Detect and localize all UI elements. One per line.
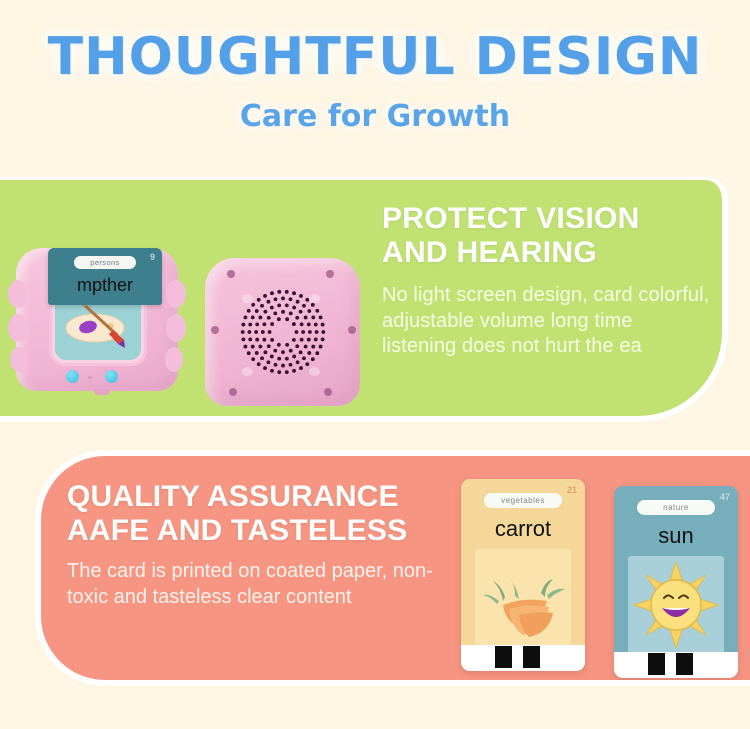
flashcard-carrot-code-strip	[461, 645, 585, 671]
flashcard-carrot-art	[475, 549, 571, 647]
flashcard-carrot-word: carrot	[461, 516, 585, 542]
quality-body: The card is printed on coated paper, non…	[67, 558, 467, 610]
screw-icon	[229, 388, 237, 396]
code-bar	[523, 646, 540, 668]
device-indicator-led	[88, 376, 92, 379]
page-header: THOUGHTFUL DESIGN Care for Growth	[0, 0, 750, 177]
screw-icon	[227, 270, 235, 278]
inserted-card-number: 9	[150, 252, 155, 262]
screw-icon	[326, 270, 334, 278]
page-subtitle: Care for Growth	[240, 99, 510, 134]
flashcard-carrot: vegetables 21 carrot	[461, 479, 585, 671]
device-back-image	[205, 258, 360, 406]
device-foot	[94, 389, 110, 395]
carrot-icon	[475, 549, 571, 647]
flashcard-sun-word: sun	[614, 523, 738, 549]
device-grip-right-2	[166, 314, 186, 342]
page-title: THOUGHTFUL DESIGN	[48, 30, 703, 85]
quality-text-block: QUALITY ASSURANCE AAFE AND TASTELESS The…	[67, 480, 467, 610]
feature-panel-vision-hearing: persons 9 mpther PROTECT VISION AND HEAR…	[0, 177, 728, 422]
device-grip-left-2	[8, 314, 28, 342]
code-bar	[495, 646, 512, 668]
flashcard-sun-art	[628, 556, 724, 654]
flashcard-sun-number: 47	[720, 492, 730, 502]
flashcard-sun-badge: nature	[637, 500, 715, 515]
device-front-image: persons 9 mpther	[8, 248, 186, 391]
smiling-sun-icon	[628, 556, 724, 654]
code-bar	[676, 653, 693, 675]
code-bar	[648, 653, 665, 675]
quality-heading: QUALITY ASSURANCE AAFE AND TASTELESS	[67, 480, 467, 548]
vision-hearing-body: No light screen design, card colorful, a…	[382, 283, 712, 360]
device-volume-button[interactable]	[105, 370, 118, 383]
radial-dot-speaker-icon	[235, 284, 331, 380]
inserted-card-word: mpther	[48, 275, 162, 296]
vision-hearing-heading: PROTECT VISION AND HEARING	[382, 202, 712, 269]
inserted-flashcard: persons 9 mpther	[48, 248, 162, 305]
device-grip-right-3	[165, 347, 183, 372]
screw-icon	[324, 388, 332, 396]
device-power-button[interactable]	[66, 370, 79, 383]
device-grip-right-1	[166, 280, 186, 308]
inserted-card-badge: persons	[74, 256, 136, 269]
device-grip-left-3	[10, 347, 28, 372]
screw-icon	[211, 326, 219, 334]
vision-hearing-text-block: PROTECT VISION AND HEARING No light scre…	[382, 202, 712, 360]
screw-icon	[348, 326, 356, 334]
flashcard-sun: nature 47 sun	[614, 486, 738, 678]
device-grip-left-1	[8, 280, 28, 308]
flashcard-carrot-badge: vegetables	[484, 493, 562, 508]
flashcard-sun-code-strip	[614, 652, 738, 678]
feature-panel-quality-assurance: QUALITY ASSURANCE AAFE AND TASTELESS The…	[35, 450, 750, 686]
flashcard-carrot-number: 21	[567, 485, 577, 495]
